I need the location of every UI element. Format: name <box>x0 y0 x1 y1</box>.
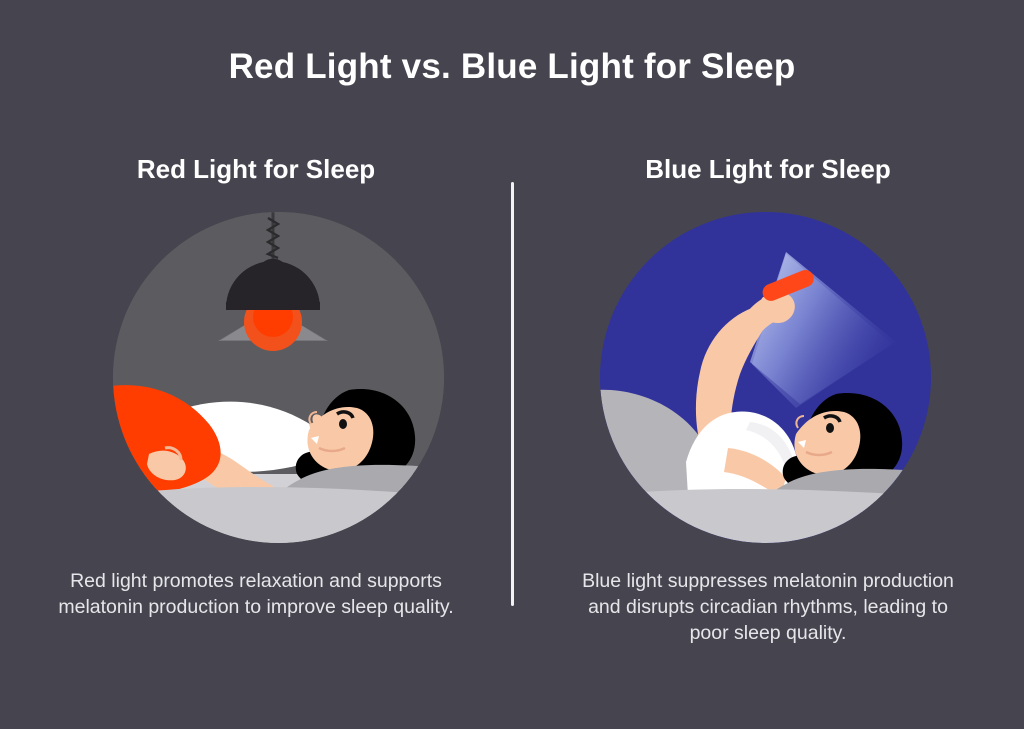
panel-blue-light: Blue Light for Sleep <box>512 0 1024 729</box>
blue-light-illustration <box>600 212 931 543</box>
panel-red-light-heading: Red Light for Sleep <box>0 154 512 185</box>
panel-red-light: Red Light for Sleep <box>0 0 512 729</box>
red-light-illustration <box>113 212 444 543</box>
panel-red-light-caption: Red light promotes relaxation and suppor… <box>56 568 456 620</box>
bed-blanket <box>600 489 931 543</box>
infographic-page: Red Light vs. Blue Light for Sleep Red L… <box>0 0 1024 729</box>
bed-blanket <box>113 487 444 543</box>
woman-eye <box>339 419 347 429</box>
woman-eye <box>826 423 834 433</box>
panel-blue-light-heading: Blue Light for Sleep <box>512 154 1024 185</box>
panel-blue-light-caption: Blue light suppresses melatonin producti… <box>568 568 968 646</box>
